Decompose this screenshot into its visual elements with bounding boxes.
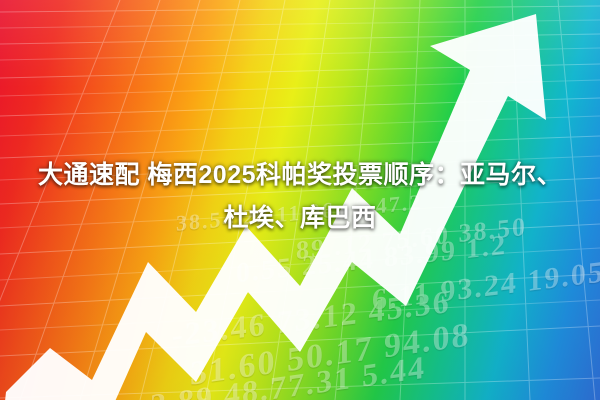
- page-title: 大通速配 梅西2025科帕奖投票顺序：亚马尔、 杜埃、库巴西: [0, 154, 600, 240]
- headline-line-2: 杜埃、库巴西: [22, 197, 578, 240]
- image-canvas: 38.54 29.11 96.12 47.2 89 .12 75.60 38.5…: [0, 0, 600, 400]
- headline-line-1: 大通速配 梅西2025科帕奖投票顺序：亚马尔、: [22, 154, 578, 197]
